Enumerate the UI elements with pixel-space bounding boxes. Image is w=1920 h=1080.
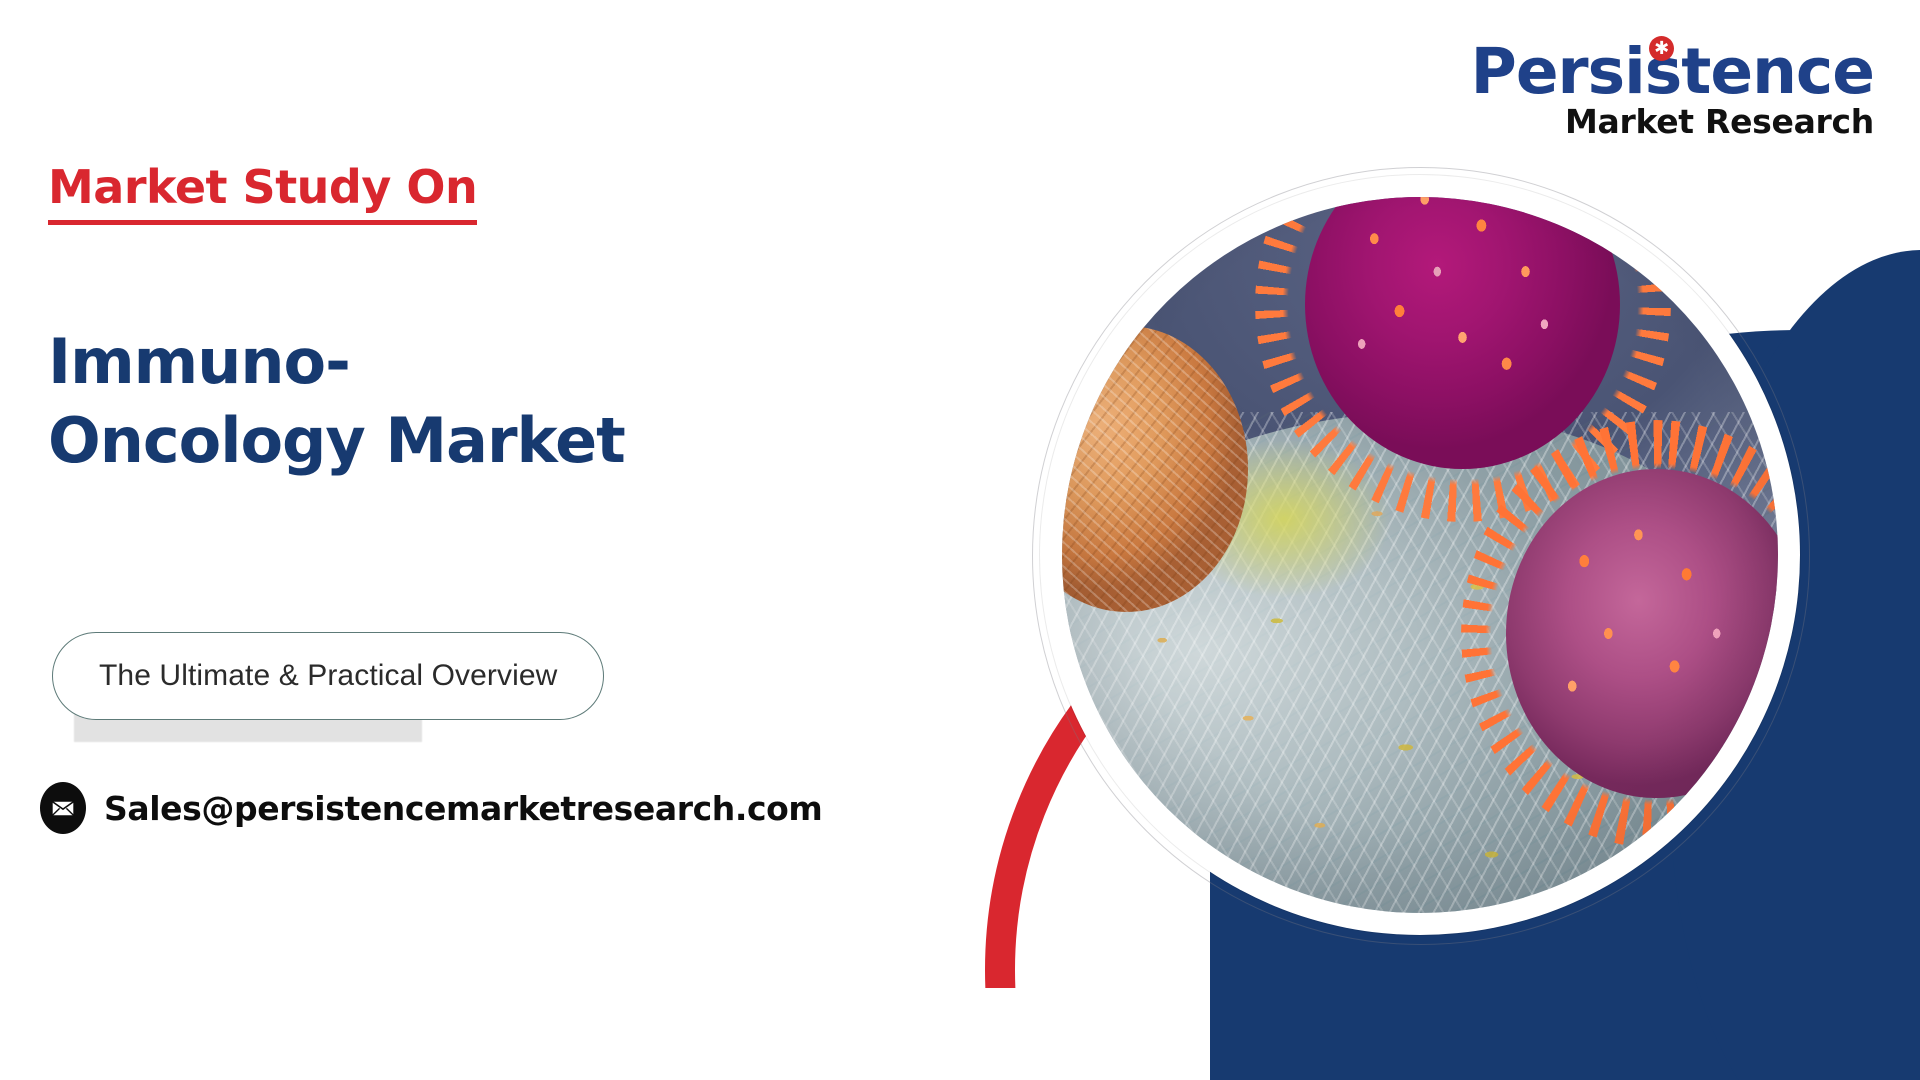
subtitle-pill[interactable]: The Ultimate & Practical Overview [52,632,604,720]
decorative-composition [740,0,1920,1080]
page-title-line-2: Oncology Market [48,404,625,477]
asterisk-dot-icon: ✱ [1649,36,1674,61]
slide-canvas: Persistence ✱ Market Research Market Stu… [0,0,1920,1080]
photo-vignette [1062,197,1778,913]
kicker-heading: Market Study On [48,160,477,225]
page-title-line-1: Immuno- [48,325,350,398]
brand-logo: Persistence ✱ Market Research [1471,40,1874,138]
envelope-icon [40,782,86,834]
microscopy-photo [1062,197,1778,913]
contact-email-row[interactable]: Sales@persistencemarketresearch.com [40,782,822,834]
logo-wordmark: Persistence ✱ [1471,40,1874,103]
logo-tagline: Market Research [1471,105,1874,138]
subtitle-pill-wrapper: The Ultimate & Practical Overview [52,632,604,720]
page-title: Immuno- Oncology Market [48,322,625,481]
contact-email-text[interactable]: Sales@persistencemarketresearch.com [104,789,822,828]
